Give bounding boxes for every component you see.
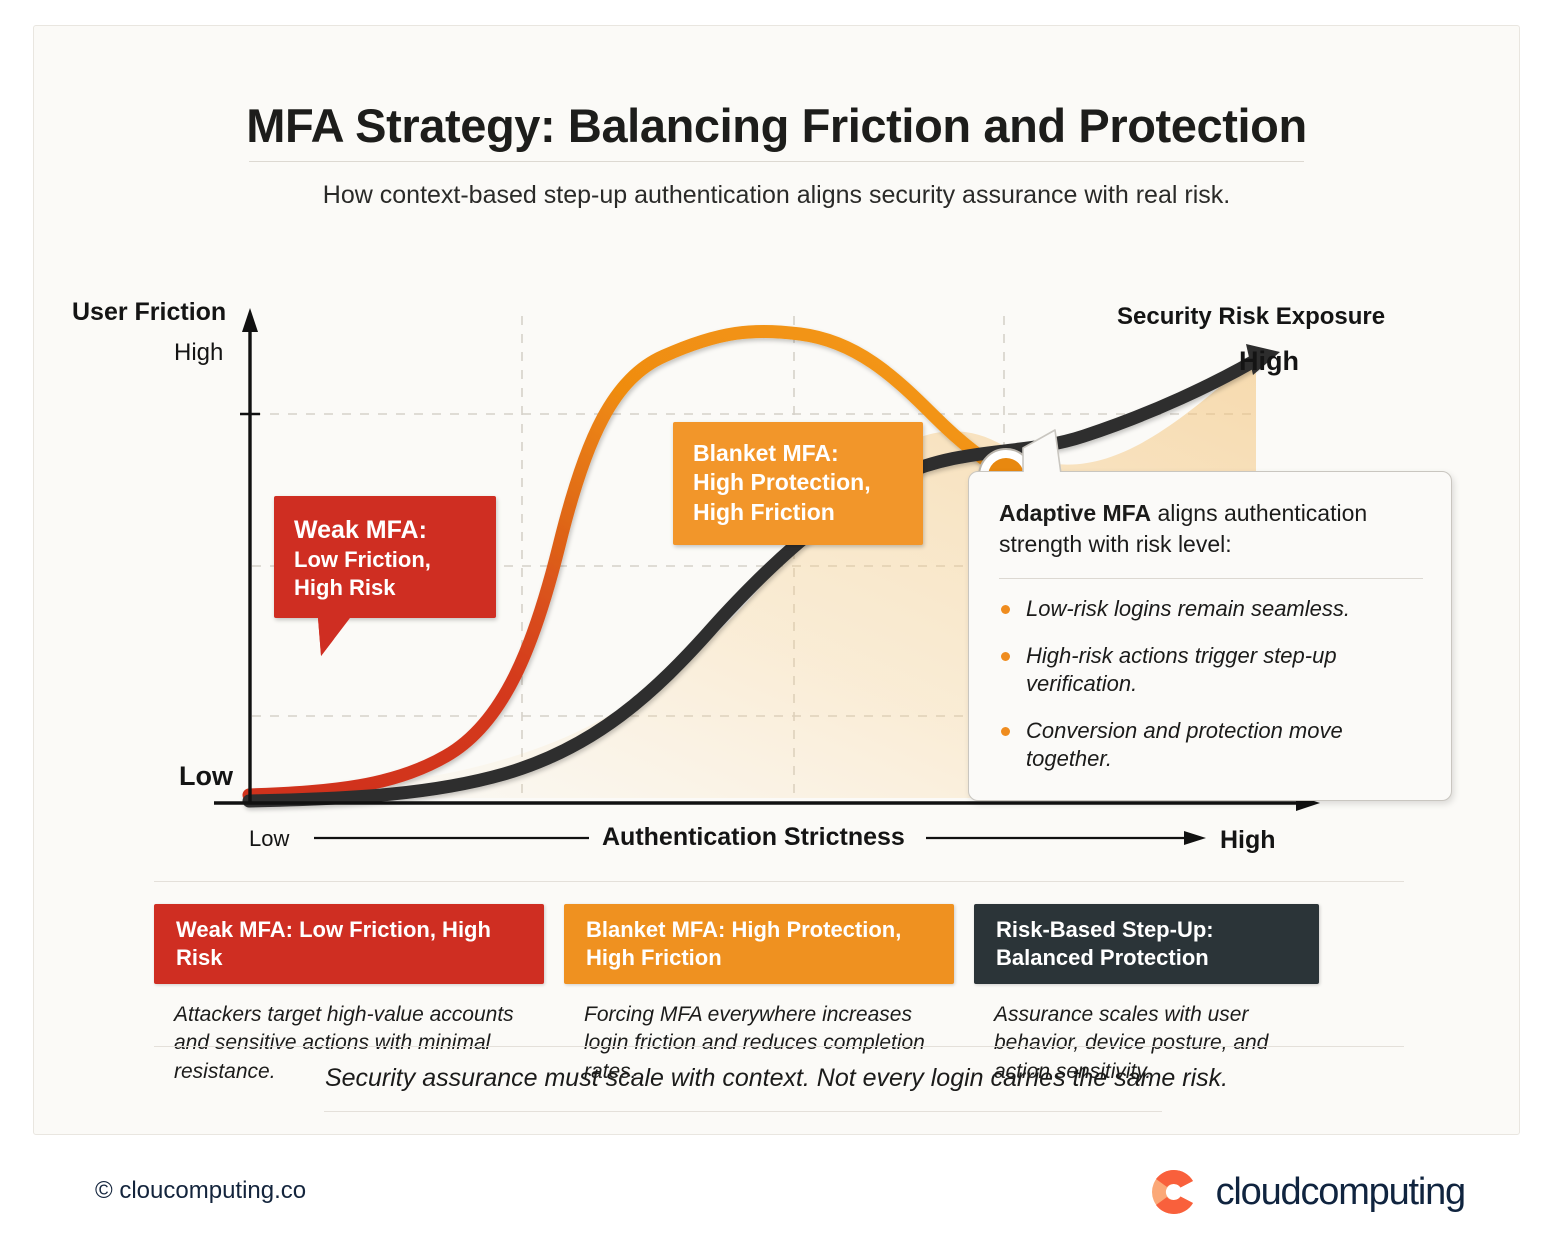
callout-weak-mfa: Weak MFA: Low Friction, High Risk [274, 496, 496, 618]
page-title: MFA Strategy: Balancing Friction and Pro… [34, 98, 1519, 153]
callout-weak-line2: Low Friction, High Risk [294, 546, 478, 602]
bullet-dot-icon [1001, 652, 1010, 661]
main-card: MFA Strategy: Balancing Friction and Pro… [33, 25, 1520, 1135]
tooltip-bullet: Conversion and protection move together. [999, 717, 1423, 774]
tooltip-divider [999, 578, 1423, 579]
legend-item-risk-based-step-up: Risk-Based Step-Up: Balanced Protection … [974, 904, 1319, 1086]
callout-weak-line1: Weak MFA: [294, 514, 478, 546]
legend: Weak MFA: Low Friction, High Risk Attack… [154, 904, 1404, 1086]
infographic-root: MFA Strategy: Balancing Friction and Pro… [0, 0, 1553, 1247]
bullet-dot-icon [1001, 605, 1010, 614]
legend-divider-top [154, 881, 1404, 882]
legend-chip: Risk-Based Step-Up: Balanced Protection [974, 904, 1319, 984]
callout-blanket-mfa: Blanket MFA: High Protection, High Frict… [673, 422, 923, 545]
tooltip-bullet: Low-risk logins remain seamless. [999, 595, 1423, 624]
y-axis [242, 308, 258, 802]
tooltip-bullet: High-risk actions trigger step-up verifi… [999, 642, 1423, 699]
tooltip-pointer [1021, 428, 1111, 478]
tooltip-bullet-text: Low-risk logins remain seamless. [1026, 595, 1350, 624]
adaptive-mfa-tooltip: Adaptive MFA aligns authentication stren… [968, 471, 1452, 801]
footer-tagline: Security assurance must scale with conte… [34, 1064, 1519, 1093]
callout-blanket-line1: Blanket MFA: [693, 439, 907, 468]
legend-divider-bottom [154, 1046, 1404, 1047]
y-axis-low-label: Low [179, 761, 233, 792]
legend-chip: Blanket MFA: High Protection, High Frict… [564, 904, 954, 984]
brand-logo-text: cloudcomputing [1216, 1171, 1465, 1214]
y2-axis-title: Security Risk Exposure [1117, 303, 1385, 331]
x-axis-title: Authentication Strictness [602, 823, 905, 852]
page-subtitle: How context-based step-up authentication… [34, 181, 1519, 210]
x-axis-low-label: Low [249, 826, 289, 852]
legend-chip: Weak MFA: Low Friction, High Risk [154, 904, 544, 984]
x-axis-high-label: High [1220, 826, 1276, 855]
copyright-text: © cloucomputing.co [95, 1177, 306, 1205]
title-divider [249, 161, 1304, 162]
callout-blanket-line3: High Friction [693, 498, 907, 527]
callout-blanket-line2: High Protection, [693, 468, 907, 497]
tooltip-lead: Adaptive MFA aligns authentication stren… [999, 498, 1423, 560]
tooltip-bullet-text: Conversion and protection move together. [1026, 717, 1423, 774]
bullet-dot-icon [1001, 727, 1010, 736]
y-axis-high-label: High [174, 339, 223, 367]
y2-axis-high-label: High [1239, 346, 1299, 377]
legend-item-weak-mfa: Weak MFA: Low Friction, High Risk Attack… [154, 904, 544, 1086]
legend-item-blanket-mfa: Blanket MFA: High Protection, High Frict… [564, 904, 954, 1086]
tooltip-lead-bold: Adaptive MFA [999, 500, 1151, 526]
tagline-divider [324, 1111, 1162, 1112]
brand-logo[interactable]: cloudcomputing [1148, 1166, 1465, 1218]
y-axis-title: User Friction [72, 298, 226, 327]
cloudcomputing-c-mark-icon [1148, 1166, 1200, 1218]
tooltip-bullet-text: High-risk actions trigger step-up verifi… [1026, 642, 1423, 699]
